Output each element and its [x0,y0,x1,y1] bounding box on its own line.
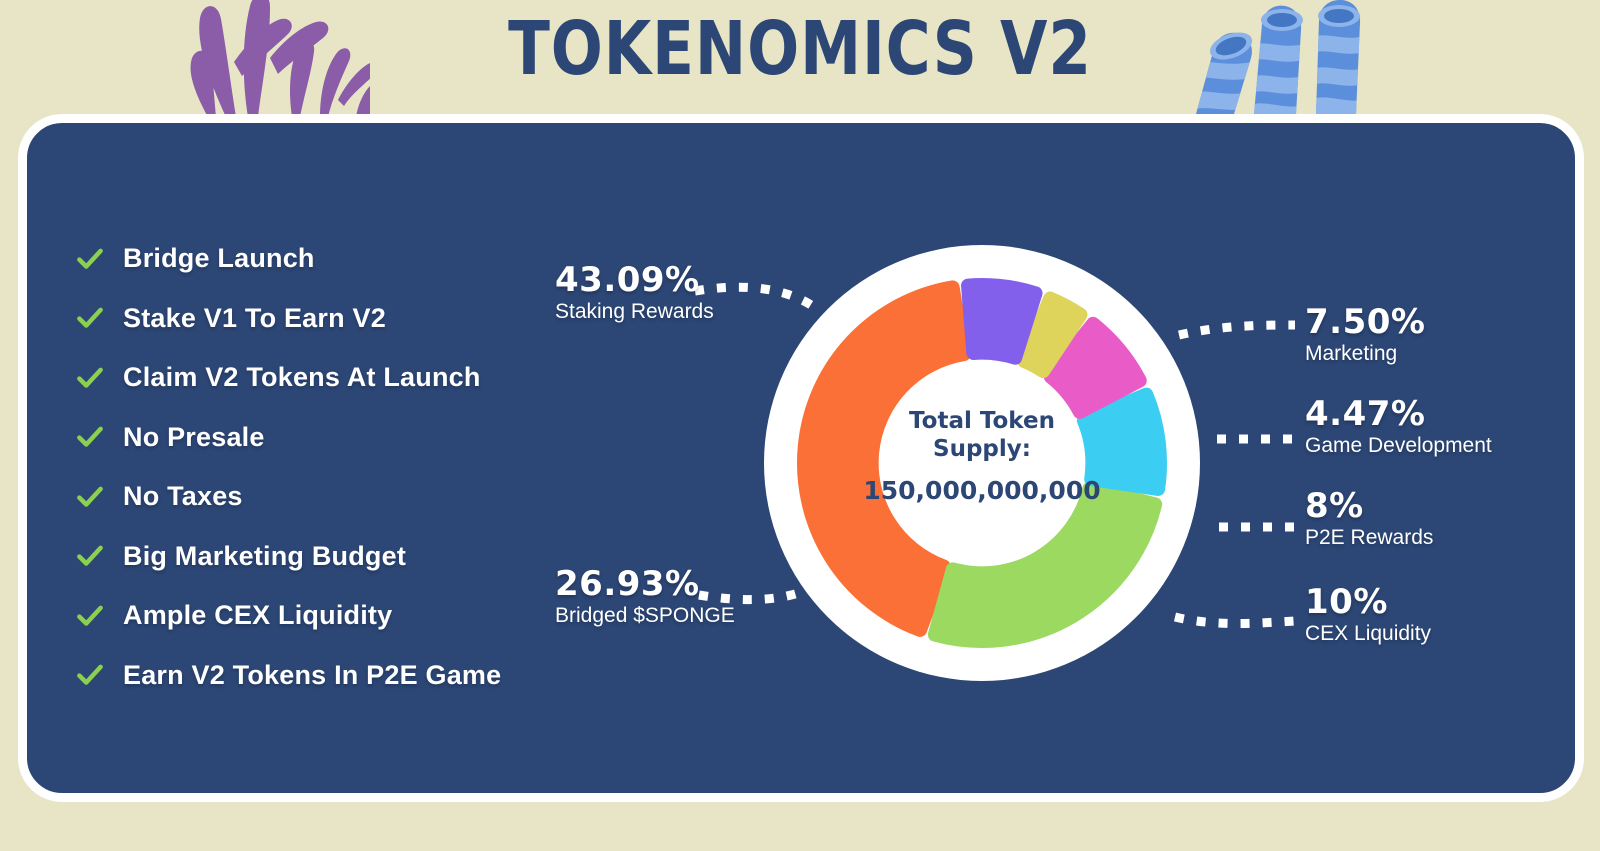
center-total-supply: 150,000,000,000 [863,476,1100,505]
tokenomics-card: Bridge Launch Stake V1 To Earn V2 Claim … [18,114,1584,802]
list-item: No Taxes [75,467,595,527]
callout-marketing: 7.50% Marketing [1305,305,1425,367]
donut-svg: Total Token Supply: 150,000,000,000 [742,243,1222,683]
callout-percent: 10% [1305,585,1431,621]
list-item-label: No Taxes [123,481,243,512]
center-title-line1: Total Token [909,408,1055,434]
list-item: Stake V1 To Earn V2 [75,289,595,349]
check-icon [75,660,105,690]
donut-segment[interactable] [968,285,1035,358]
callout-p2e-rewards: 8% P2E Rewards [1305,489,1433,551]
callout-cex-liquidity: 10% CEX Liquidity [1305,585,1431,647]
callout-label: Game Development [1305,433,1492,459]
callout-label: Bridged $SPONGE [555,603,735,629]
callout-label: Staking Rewards [555,299,714,325]
check-icon [75,482,105,512]
callout-game-development: 4.47% Game Development [1305,397,1492,459]
check-icon [75,422,105,452]
check-icon [75,303,105,333]
callout-percent: 8% [1305,489,1433,525]
callout-percent: 26.93% [555,567,735,603]
list-item: No Presale [75,408,595,468]
list-item-label: Stake V1 To Earn V2 [123,303,386,334]
list-item: Earn V2 Tokens In P2E Game [75,646,595,706]
list-item: Bridge Launch [75,229,595,289]
callout-bridged-sponge: 26.93% Bridged $SPONGE [555,567,735,629]
list-item: Ample CEX Liquidity [75,586,595,646]
center-title-line2: Supply: [933,436,1031,462]
callout-label: CEX Liquidity [1305,621,1431,647]
list-item: Claim V2 Tokens At Launch [75,348,595,408]
list-item-label: Claim V2 Tokens At Launch [123,362,481,393]
check-icon [75,601,105,631]
list-item-label: Earn V2 Tokens In P2E Game [123,660,501,691]
callout-percent: 4.47% [1305,397,1492,433]
callout-percent: 43.09% [555,263,714,299]
list-item-label: Big Marketing Budget [123,541,406,572]
list-item: Big Marketing Budget [75,527,595,587]
list-item-label: No Presale [123,422,265,453]
callout-staking-rewards: 43.09% Staking Rewards [555,263,714,325]
callout-label: P2E Rewards [1305,525,1433,551]
callout-label: Marketing [1305,341,1425,367]
callout-percent: 7.50% [1305,305,1425,341]
tokenomics-donut-chart: Total Token Supply: 150,000,000,000 [742,243,1222,683]
check-icon [75,363,105,393]
check-icon [75,541,105,571]
list-item-label: Bridge Launch [123,243,315,274]
feature-checklist: Bridge Launch Stake V1 To Earn V2 Claim … [75,229,595,705]
check-icon [75,244,105,274]
list-item-label: Ample CEX Liquidity [123,600,392,631]
page-title: TOKENOMICS V2 [64,6,1536,92]
